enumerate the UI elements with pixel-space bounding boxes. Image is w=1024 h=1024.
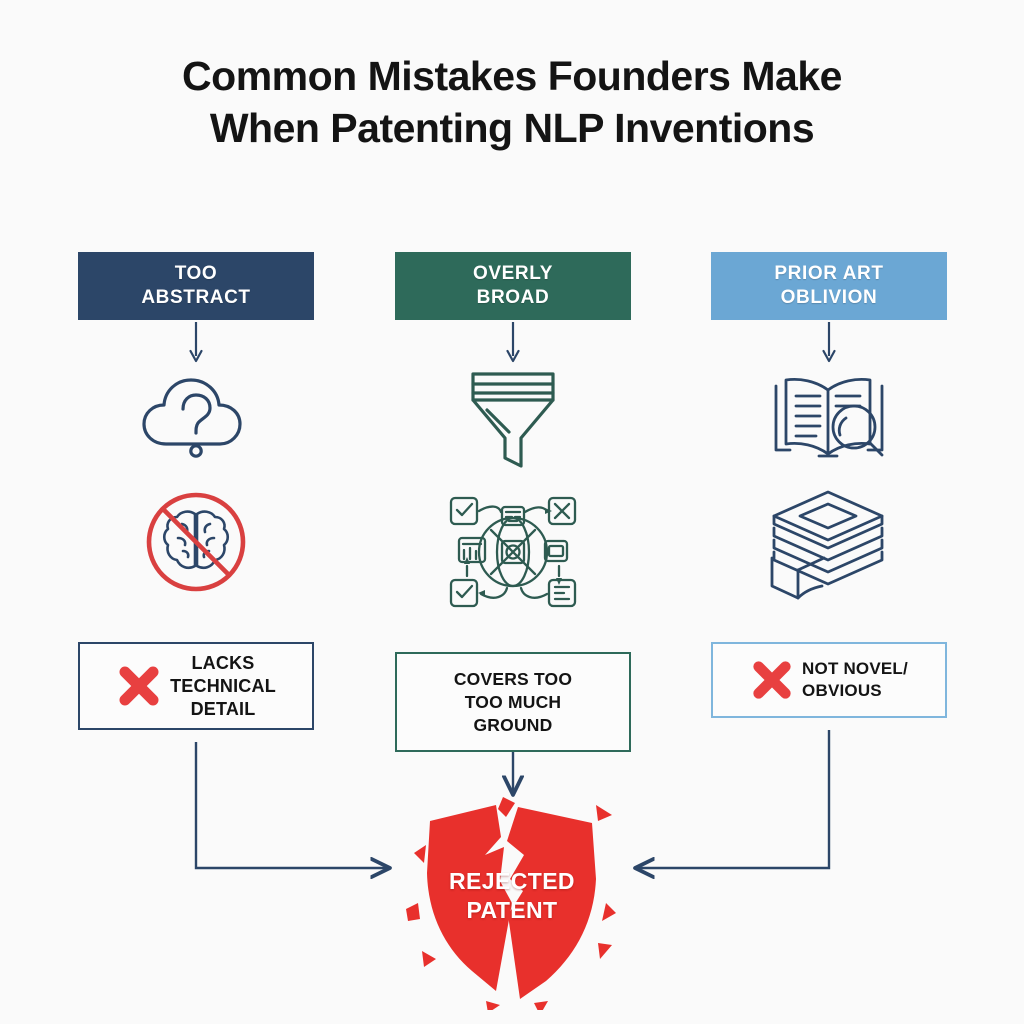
banner-line-2: ABSTRACT [141,286,250,310]
result-box-not-novel-obvious[interactable]: NOT NOVEL/ OBVIOUS [711,642,947,718]
result-line-2: TOO MUCH [454,691,572,714]
icon-slot-funnel [395,366,631,474]
funnel-icon [461,366,565,474]
banner-line-2: OBLIVION [781,286,878,310]
banner-arrow-down-icon [711,320,947,366]
shield-label: REJECTED PATENT [400,867,624,925]
result-line-2: OBVIOUS [802,680,908,702]
result-line-3: DETAIL [170,698,276,721]
shield-label-line-2: PATENT [400,896,624,925]
spacer-b [711,604,947,642]
book-magnifier-icon [766,366,892,470]
icon-slot-network-hub [395,490,631,614]
banner-overly-broad[interactable]: OVERLY BROAD [395,252,631,320]
result-box-covers-too-much-ground[interactable]: COVERS TOO TOO MUCH GROUND [395,652,631,752]
result-text: LACKS TECHNICAL DETAIL [170,652,276,721]
cloud-question-icon [136,366,256,470]
banner-prior-art-oblivion[interactable]: PRIOR ART OBLIVION [711,252,947,320]
red-x-icon [750,658,794,702]
icon-slot-book-stack [711,486,947,604]
result-text: NOT NOVEL/ OBVIOUS [802,658,908,702]
spacer-b [78,604,314,642]
result-box-lacks-technical-detail[interactable]: LACKS TECHNICAL DETAIL [78,642,314,730]
banner-arrow-down-icon [395,320,631,366]
column-too-abstract: TOO ABSTRACT [78,252,314,730]
page-title-line-2: When Patenting NLP Inventions [0,102,1024,154]
result-line-3: GROUND [454,714,572,737]
red-x-icon [116,663,162,709]
icon-slot-book-magnifier [711,366,947,470]
book-stack-icon [764,486,894,604]
shield-label-line-1: REJECTED [400,867,624,896]
banner-too-abstract[interactable]: TOO ABSTRACT [78,252,314,320]
result-line-1: NOT NOVEL/ [802,658,908,680]
result-line-1: LACKS [170,652,276,675]
page-title-line-1: Common Mistakes Founders Make [0,50,1024,102]
rejected-patent-outcome[interactable]: REJECTED PATENT [400,795,624,1010]
spacer-a [78,470,314,486]
no-brain-icon [137,486,255,604]
spacer-b [395,614,631,652]
spacer-a [711,470,947,486]
result-line-2: TECHNICAL [170,675,276,698]
banner-line-2: BROAD [477,286,550,310]
icon-slot-no-brain [78,486,314,604]
column-prior-art-oblivion: PRIOR ART OBLIVION [711,252,947,718]
page-title: Common Mistakes Founders Make When Paten… [0,50,1024,154]
banner-line-1: TOO [175,262,218,286]
result-text: COVERS TOO TOO MUCH GROUND [454,668,572,737]
banner-arrow-down-icon [78,320,314,366]
banner-line-1: PRIOR ART [774,262,883,286]
spacer-a [395,474,631,490]
icon-slot-cloud-question [78,366,314,470]
banner-line-1: OVERLY [473,262,553,286]
result-line-1: COVERS TOO [454,668,572,691]
column-overly-broad: OVERLY BROAD [395,252,631,752]
network-hub-icon [443,490,583,614]
